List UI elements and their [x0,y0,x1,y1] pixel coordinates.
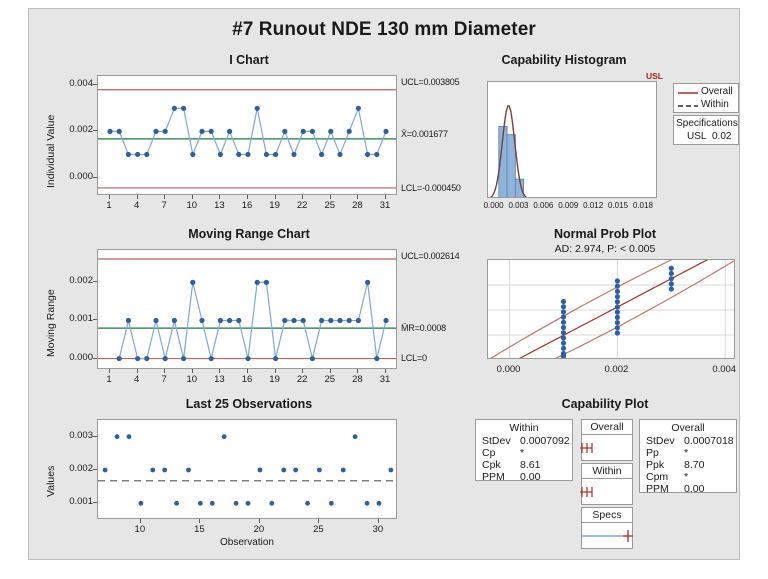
capability-band-specs: Specs [581,507,633,549]
within-stats-header: Within [476,422,572,434]
overall-stat-key: PPM [646,483,669,495]
overall-stat-key: Ppk [646,459,664,471]
mr-chart-ylabel: Moving Range [45,289,57,357]
last25-xlabel: Observation [97,537,397,548]
i-chart-plot [97,75,397,195]
overall-stats-box: Overall StDev0.0007018Pp*Ppk8.70Cpm*PPM0… [639,419,737,493]
within-stat-key: PPM [482,471,505,483]
specifications-header: Specifications [674,118,740,129]
legend-label-overall: Overall [701,86,733,97]
i-chart-ylabel: Individual Value [45,115,57,188]
last25-ylabel: Values [45,466,57,497]
overall-stat-value: 0.00 [684,483,704,495]
overall-stat-key: Pp [646,447,659,459]
last25-panel: Last 25 Observations Values 0.0010.0020.… [29,397,469,562]
normplot-subtitle: AD: 2.974, P: < 0.005 [469,243,741,255]
capability-band-header: Overall [582,420,632,435]
overall-stat-value: 0.0007018 [684,435,734,447]
histogram-title: Capability Histogram [469,53,659,67]
last25-plot [97,419,397,519]
overall-stat-key: StDev [646,435,675,447]
overall-stat-key: Cpm [646,471,668,483]
i-chart-lcl-label: LCL=-0.000450 [401,183,461,193]
page-title: #7 Runout NDE 130 mm Diameter [29,19,739,41]
within-stats-box: Within StDev0.0007092Cp*Cpk8.61PPM0.00 [475,419,573,481]
normplot-title: Normal Prob Plot [469,227,741,241]
last25-title: Last 25 Observations [29,397,469,411]
specifications-usl-name: USL [687,131,706,142]
normplot-panel: Normal Prob Plot AD: 2.974, P: < 0.005 0… [469,227,741,402]
i-chart-ucl-label: UCL=0.003805 [401,77,459,87]
histogram-panel: Capability Histogram USL 0.0000.0030.006… [469,53,741,228]
within-stat-value: 0.00 [520,471,540,483]
legend-label-within: Within [701,99,729,110]
within-stat-key: Cp [482,447,495,459]
overall-stats-header: Overall [640,422,736,434]
i-chart-center-label: X̄=0.001677 [401,129,448,139]
i-chart-panel: I Chart Individual Value 0.0000.0020.004… [29,53,469,228]
specifications-box: Specifications USL 0.02 [673,115,739,145]
within-stat-value: 0.0007092 [520,435,570,447]
histogram-legend: Overall Within [673,83,739,113]
mr-chart-lcl-label: LCL=0 [401,353,427,363]
mr-chart-plot [97,249,397,369]
mr-chart-panel: Moving Range Chart Moving Range 0.0000.0… [29,227,469,402]
overall-stat-value: * [684,447,688,459]
specifications-usl-value: 0.02 [712,131,731,142]
within-stat-value: * [520,447,524,459]
capability-plot-panel: Capability Plot Within StDev0.0007092Cp*… [469,397,741,562]
capability-band-header: Within [582,464,632,479]
overall-stat-value: 8.70 [684,459,704,471]
capability-band-overall: Overall [581,419,633,461]
mr-chart-ucl-label: UCL=0.002614 [401,251,459,261]
capability-band-within: Within [581,463,633,505]
overall-stat-value: * [684,471,688,483]
capability-report: #7 Runout NDE 130 mm Diameter I Chart In… [28,8,740,560]
within-stat-key: StDev [482,435,511,447]
normplot-plot [487,259,735,359]
mr-chart-center-label: M̄R=0.0008 [401,323,446,333]
mr-chart-title: Moving Range Chart [29,227,469,241]
within-stat-value: 8.61 [520,459,540,471]
within-stat-key: Cpk [482,459,501,471]
capability-band-header: Specs [582,508,632,523]
i-chart-title: I Chart [29,53,469,67]
histogram-plot [487,81,657,198]
histogram-usl-label: USL [646,71,663,81]
capability-plot-title: Capability Plot [469,397,741,411]
